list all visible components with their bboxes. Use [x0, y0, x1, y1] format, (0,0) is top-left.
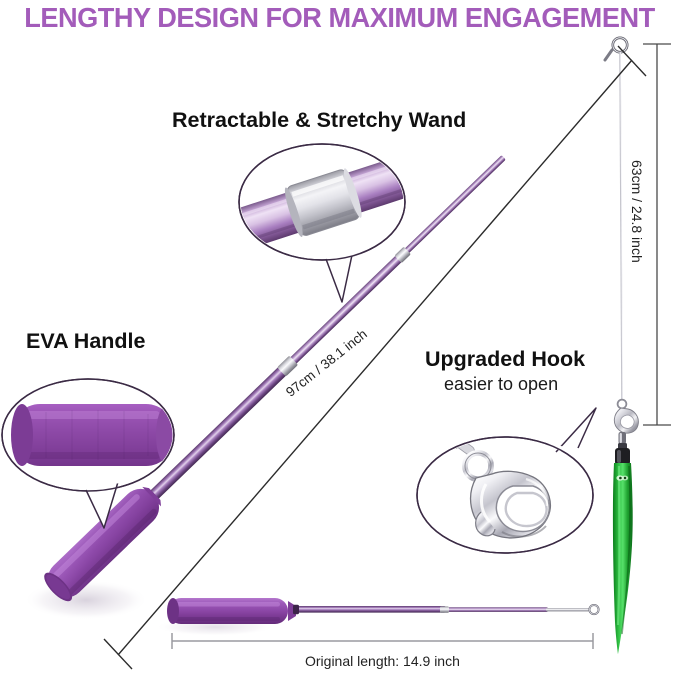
product-infographic: LENGTHY DESIGN FOR MAXIMUM ENGAGEMENT Re… — [0, 0, 679, 680]
callout-label-upgraded-hook: Upgraded Hook — [425, 347, 585, 372]
dimension-label-retracted-length: Original length: 14.9 inch — [305, 653, 460, 669]
callout-subtext-upgraded-hook: easier to open — [444, 374, 558, 395]
wand-tip-eyelet — [605, 38, 627, 60]
eva-handle-small — [167, 598, 296, 624]
callout-upgraded-hook — [417, 408, 596, 553]
callout-retractable-wand — [222, 144, 428, 302]
dimension-vertical — [643, 44, 671, 425]
callout-label-eva-handle: EVA Handle — [26, 329, 145, 354]
green-lure — [613, 448, 633, 654]
dimension-label-string-drop: 63cm / 24.8 inch — [629, 160, 645, 263]
hanging-assembly — [613, 52, 638, 654]
hook-clasp-small — [614, 400, 638, 450]
callout-label-retractable-wand: Retractable & Stretchy Wand — [172, 108, 466, 133]
retracted-rod — [293, 605, 590, 614]
retracted-wand — [155, 598, 599, 636]
magnified-eva-grip — [11, 404, 176, 466]
retracted-tip-eyelet — [589, 605, 598, 614]
page-title: LENGTHY DESIGN FOR MAXIMUM ENGAGEMENT — [10, 2, 669, 34]
